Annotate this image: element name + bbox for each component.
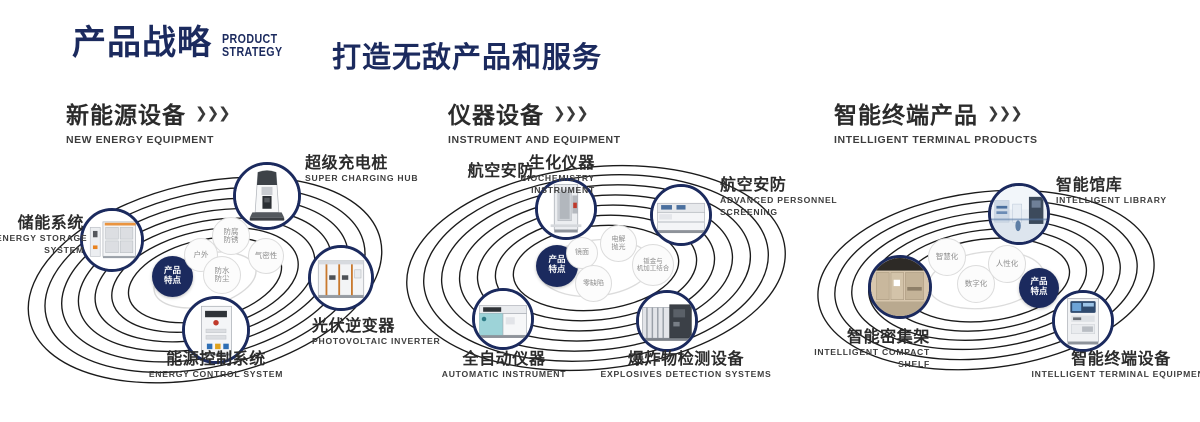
library-interior-icon <box>991 186 1047 242</box>
core-bubble-product-features: 产品 特点 <box>1019 268 1059 308</box>
node-energy-storage-system[interactable] <box>80 208 144 272</box>
label-automatic-instrument: 全自动仪器 AUTOMATIC INSTRUMENT <box>424 350 584 381</box>
section-title-cn-1: 仪器设备 <box>448 96 544 130</box>
feature-bubble-waterproof: 防水防尘 <box>203 256 241 294</box>
compact-shelving-icon <box>871 258 929 316</box>
screening-machine-icon <box>653 187 709 243</box>
label-intelligent-compact-shelf: 智能密集架 INTELLIGENT COMPACTSHELF <box>780 328 930 370</box>
label-explosives-detection-systems: 爆炸物检测设备 EXPLOSIVES DETECTION SYSTEMS <box>596 350 776 381</box>
product-strategy-infographic: 产品战略 PRODUCT STRATEGY 打造无敌产品和服务 新能源设备 ❯❯… <box>0 0 1200 422</box>
section-title-en-2: INTELLIGENT TERMINAL PRODUCTS <box>834 134 1038 146</box>
core-line-2: 特点 <box>164 277 181 287</box>
feature-bubble-airtight: 气密性 <box>248 238 284 274</box>
node-intelligent-compact-shelf[interactable] <box>868 255 932 319</box>
cluster-new-energy-equipment: 产品 特点 户外 防腐防锈 防水防尘 气密性 <box>0 150 400 400</box>
label-energy-storage-system: 储能系统 ENERGY STORAGESYSTEM <box>0 214 84 256</box>
title-english-line2: STRATEGY <box>222 45 283 58</box>
pv-inverter-cabinet-icon <box>311 248 371 308</box>
feature-bubble-electropolishing: 电解抛光 <box>600 225 637 262</box>
charging-pile-icon <box>236 165 298 227</box>
section-heading-instrument: 仪器设备 ❯❯❯ INSTRUMENT AND EQUIPMENT <box>448 96 621 146</box>
node-super-charging-hub[interactable] <box>233 162 301 230</box>
self-service-kiosk-icon <box>1055 293 1111 349</box>
chevron-right-icon: ❯❯❯ <box>553 104 588 122</box>
section-heading-intelligent-terminal: 智能终端产品 ❯❯❯ INTELLIGENT TERMINAL PRODUCTS <box>834 96 1038 146</box>
core-line-2: 特点 <box>1030 288 1047 298</box>
label-intelligent-library: 智能馆库 INTELLIGENT LIBRARY <box>1056 176 1167 207</box>
node-photovoltaic-inverter[interactable] <box>308 245 374 311</box>
feature-bubble-zero-defect: 零缺陷 <box>575 265 612 302</box>
chevron-right-icon: ❯❯❯ <box>987 104 1022 122</box>
node-intelligent-library[interactable] <box>988 183 1050 245</box>
cluster-instrument-and-equipment: 产品 特点 镜面 电解抛光 零缺陷 钣金与机加工结合 <box>400 150 800 400</box>
automatic-analyzer-icon <box>475 291 531 347</box>
chevron-right-icon: ❯❯❯ <box>195 104 230 122</box>
node-automatic-instrument[interactable] <box>472 288 534 350</box>
label-biochemistry-instrument: 生化仪器 BIOCHEMISTRYINSTRUMENT <box>475 154 595 196</box>
cluster-intelligent-terminal-products: 智慧化 数字化 人性化 产品 特点 <box>800 150 1200 400</box>
section-title-cn-0: 新能源设备 <box>66 96 186 130</box>
label-intelligent-terminal-equipment: 智能终端设备 INTELLIGENT TERMINAL EQUIPMENT <box>1026 350 1200 381</box>
node-intelligent-terminal-equipment[interactable] <box>1052 290 1114 352</box>
section-title-cn-2: 智能终端产品 <box>834 96 978 130</box>
feature-bubble-humanized: 人性化 <box>988 245 1026 283</box>
node-explosives-detection-systems[interactable] <box>636 290 698 352</box>
feature-bubble-sheetmetal-machining: 钣金与机加工结合 <box>632 244 674 286</box>
feature-bubble-intelligent: 智慧化 <box>928 238 966 276</box>
section-title-en-1: INSTRUMENT AND EQUIPMENT <box>448 134 621 146</box>
core-line-2: 特点 <box>548 266 565 276</box>
node-advanced-personnel-screening[interactable] <box>650 184 712 246</box>
energy-storage-cabinet-icon <box>83 211 141 269</box>
title-english: PRODUCT STRATEGY <box>222 32 283 58</box>
detection-rack-icon <box>639 293 695 349</box>
page-subtitle: 打造无敌产品和服务 <box>332 34 602 76</box>
page-title: 产品战略 PRODUCT STRATEGY <box>72 26 296 60</box>
section-heading-new-energy: 新能源设备 ❯❯❯ NEW ENERGY EQUIPMENT <box>66 96 230 146</box>
label-energy-control-system: 能源控制系统 ENERGY CONTROL SYSTEM <box>118 350 314 381</box>
title-chinese: 产品战略 <box>72 26 212 60</box>
section-title-en-0: NEW ENERGY EQUIPMENT <box>66 134 230 146</box>
